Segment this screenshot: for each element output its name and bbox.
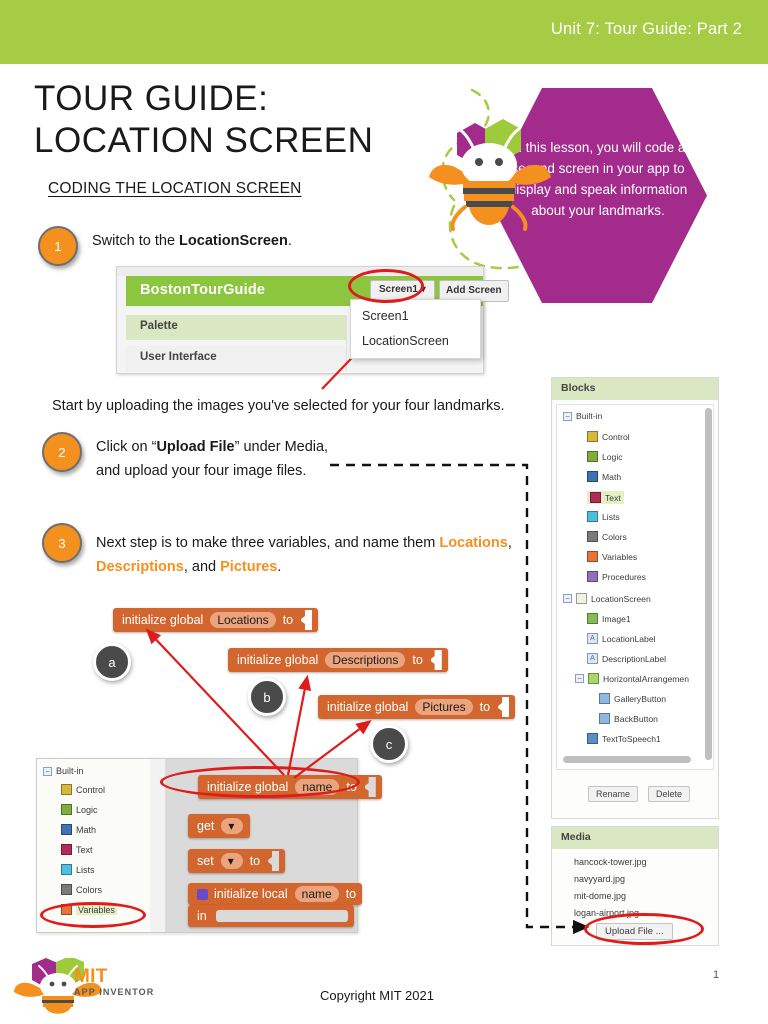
blocks-item-logic[interactable]: Logic [587, 451, 623, 462]
block-suffix: to [250, 854, 260, 868]
block-body-slot [216, 910, 348, 922]
text-color-icon [61, 844, 72, 855]
step-1-badge: 1 [38, 226, 78, 266]
highlight-upload-file-button [584, 913, 704, 945]
variables-color-icon [587, 551, 598, 562]
blocks-item-label: Lists [602, 512, 620, 522]
blocks-item-control[interactable]: Control [587, 431, 630, 442]
blocks-item-text[interactable]: Text [587, 491, 624, 504]
colors-color-icon [61, 884, 72, 895]
blocks-item-label: Variables [602, 552, 637, 562]
block-socket-icon [431, 650, 442, 670]
dropdown-pill[interactable]: ▾ [220, 852, 244, 870]
blocks-tree-locationscreen[interactable]: − LocationScreen [563, 593, 651, 604]
step-2-text: Click on “Upload File” under Media, and … [96, 436, 328, 484]
rename-button[interactable]: Rename [588, 786, 638, 802]
media-file-3[interactable]: mit-dome.jpg [574, 891, 626, 901]
media-file-2[interactable]: navyyard.jpg [574, 874, 625, 884]
block-prefix: initialize global [122, 613, 203, 627]
flyout-block-init-local[interactable]: initialize local name to [188, 883, 362, 905]
media-file-1[interactable]: hancock-tower.jpg [574, 857, 647, 867]
lists-color-icon [61, 864, 72, 875]
block-suffix: to [346, 887, 356, 901]
editor-root-label: Built-in [56, 766, 84, 776]
block-socket-icon [268, 851, 279, 871]
page-title-line2: LOCATION SCREEN [34, 120, 373, 161]
step-3-comma: , [508, 535, 512, 551]
blocks-panel-title: Blocks [561, 382, 595, 394]
blocks-item-label: TextToSpeech1 [602, 734, 661, 744]
block-label: get [197, 819, 214, 833]
browser-strip [117, 267, 483, 276]
step-3-var-pictures: Pictures [220, 559, 277, 575]
arrangement-icon [588, 673, 599, 684]
dropdown-pill[interactable]: ▾ [220, 817, 244, 835]
step-3-period: . [277, 559, 281, 575]
block-prefix: initialize global [237, 653, 318, 667]
step-3-pre: Next step is to make three variables, an… [96, 535, 439, 551]
collapse-icon[interactable]: − [563, 594, 572, 603]
screen-icon [576, 593, 587, 604]
user-interface-row[interactable]: User Interface [126, 346, 346, 371]
block-socket-icon [365, 777, 376, 797]
editor-item-label: Control [76, 785, 105, 795]
block-init-global-locations[interactable]: initialize global Locations to [113, 608, 318, 632]
dropdown-item-locationscreen[interactable]: LocationScreen [362, 334, 449, 348]
editor-tree-item-lists[interactable]: Lists [61, 864, 95, 875]
blocks-item-label: BackButton [614, 714, 658, 724]
step-3-text: Next step is to make three variables, an… [96, 532, 512, 580]
panel-divider [346, 315, 347, 371]
editor-item-label: Colors [76, 885, 102, 895]
step-2-post: ” under Media, [235, 439, 329, 455]
block-label: set [197, 854, 214, 868]
palette-header: Palette [126, 315, 346, 340]
step-3-line1: Next step is to make three variables, an… [96, 532, 512, 556]
blocks-item-procedures[interactable]: Procedures [587, 571, 646, 582]
blocks-vertical-scrollbar[interactable] [705, 408, 712, 760]
text-color-icon [590, 492, 601, 503]
editor-item-label: Logic [76, 805, 98, 815]
blocks-item-gallerybutton[interactable]: GalleryButton [599, 693, 666, 704]
media-panel-header: Media [552, 827, 718, 849]
collapse-icon[interactable]: − [563, 412, 572, 421]
dropdown-item-screen1[interactable]: Screen1 [362, 309, 409, 323]
button-icon [599, 693, 610, 704]
highlight-variables-drawer [40, 902, 146, 928]
editor-tree-item-control[interactable]: Control [61, 784, 105, 795]
media-panel-title: Media [561, 831, 591, 843]
marker-c: c [370, 725, 408, 763]
label-icon: A [587, 653, 598, 664]
step-1-text-bold: LocationScreen [179, 233, 288, 249]
button-icon [599, 713, 610, 724]
math-color-icon [61, 824, 72, 835]
gear-icon[interactable] [197, 889, 208, 900]
blocks-item-label: Procedures [602, 572, 646, 582]
flyout-block-init-local-in[interactable]: in [188, 905, 354, 927]
lists-color-icon [587, 511, 598, 522]
step-3-var-locations: Locations [439, 535, 507, 551]
logic-color-icon [61, 804, 72, 815]
blocks-item-backbutton[interactable]: BackButton [599, 713, 658, 724]
blocks-item-image1[interactable]: Image1 [587, 613, 631, 624]
blocks-item-label: Image1 [602, 614, 631, 624]
step-2-bold: Upload File [156, 439, 234, 455]
blocks-item-label: LocationLabel [602, 634, 656, 644]
page-subtitle: CODING THE LOCATION SCREEN [48, 180, 302, 198]
editor-tree-item-colors[interactable]: Colors [61, 884, 102, 895]
label-icon: A [587, 633, 598, 644]
marker-b: b [248, 678, 286, 716]
step-2-line2: and upload your four image files. [96, 460, 328, 484]
lesson-page: Unit 7: Tour Guide: Part 2 TOUR GUIDE: L… [0, 0, 768, 1024]
editor-item-label: Math [76, 825, 96, 835]
logic-color-icon [587, 451, 598, 462]
control-color-icon [61, 784, 72, 795]
blocks-tree: − Built-in Control Logic Math Text Lists… [556, 404, 714, 770]
block-variable-name[interactable]: name [294, 885, 340, 903]
block-in-label: in [197, 909, 207, 923]
step-2-pre: Click on “ [96, 439, 156, 455]
step-3-mid: , and [184, 559, 220, 575]
blocks-item-texttospeech1[interactable]: TextToSpeech1 [587, 733, 661, 744]
collapse-icon[interactable]: − [43, 767, 52, 776]
intro-line: Start by uploading the images you've sel… [52, 398, 505, 414]
step-2-line1: Click on “Upload File” under Media, [96, 436, 328, 460]
editor-tree-root[interactable]: − Built-in [43, 766, 84, 776]
screen-label: LocationScreen [591, 594, 651, 604]
blocks-horizontal-scrollbar[interactable] [563, 756, 691, 763]
screen-dropdown-menu[interactable]: Screen1 LocationScreen [350, 299, 481, 359]
editor-item-label: Text [76, 845, 93, 855]
editor-tree-item-logic[interactable]: Logic [61, 804, 98, 815]
step-1-text: Switch to the LocationScreen. [92, 230, 292, 254]
app-inventor-wordmark: APP INVENTOR [74, 987, 154, 997]
step-1-text-post: . [288, 233, 292, 249]
highlight-init-global-block [160, 766, 360, 798]
blocks-item-math[interactable]: Math [587, 471, 621, 482]
mit-bee-mascot-icon [425, 95, 555, 245]
step-1-text-pre: Switch to the [92, 233, 179, 249]
block-suffix: to [283, 613, 293, 627]
speech-icon [587, 733, 598, 744]
blocks-item-label: Math [602, 472, 621, 482]
control-color-icon [587, 431, 598, 442]
blocks-item-label: Colors [602, 532, 627, 542]
delete-button[interactable]: Delete [648, 786, 690, 802]
marker-a: a [93, 643, 131, 681]
project-name-label: BostonTourGuide [140, 282, 265, 298]
block-socket-icon [301, 610, 312, 630]
image-icon [587, 613, 598, 624]
block-suffix: to [412, 653, 422, 667]
block-init-global-pictures[interactable]: initialize global Pictures to [318, 695, 515, 719]
blocks-panel: Blocks − Built-in Control Logic Math Tex… [551, 377, 719, 819]
editor-tree-item-math[interactable]: Math [61, 824, 96, 835]
step-3-line2: Descriptions, and Pictures. [96, 556, 512, 580]
blocks-item-label: GalleryButton [614, 694, 666, 704]
flyout-block-set[interactable]: set ▾ to [188, 849, 285, 873]
block-prefix: initialize global [327, 700, 408, 714]
block-variable-name[interactable]: Pictures [414, 698, 473, 716]
colors-color-icon [587, 531, 598, 542]
page-number: 1 [713, 969, 719, 981]
blocks-item-descriptionlabel[interactable]: ADescriptionLabel [587, 653, 666, 664]
procedures-color-icon [587, 571, 598, 582]
block-variable-name[interactable]: Descriptions [324, 651, 406, 669]
blocks-tree-builtin[interactable]: − Built-in [563, 411, 602, 421]
copyright-text: Copyright MIT 2021 [320, 988, 434, 1003]
blocks-item-variables[interactable]: Variables [587, 551, 637, 562]
blocks-item-lists[interactable]: Lists [587, 511, 620, 522]
step-3-badge: 3 [42, 523, 82, 563]
unit-label: Unit 7: Tour Guide: Part 2 [551, 20, 742, 39]
blocks-item-locationlabel[interactable]: ALocationLabel [587, 633, 656, 644]
editor-item-label: Lists [76, 865, 95, 875]
blocks-item-label: Logic [602, 452, 623, 462]
step-3-var-descriptions: Descriptions [96, 559, 184, 575]
block-suffix: to [480, 700, 490, 714]
user-interface-label: User Interface [140, 351, 217, 363]
blocks-panel-header: Blocks [552, 378, 718, 400]
step-2-badge: 2 [42, 432, 82, 472]
editor-tree-item-text[interactable]: Text [61, 844, 93, 855]
blocks-item-label: Control [602, 432, 630, 442]
blocks-item-colors[interactable]: Colors [587, 531, 627, 542]
flyout-block-get[interactable]: get ▾ [188, 814, 250, 838]
page-title-line1: TOUR GUIDE: [34, 78, 268, 119]
block-variable-name[interactable]: Locations [209, 611, 276, 629]
blocks-item-label: HorizontalArrangemen [603, 674, 689, 684]
builtin-label: Built-in [576, 411, 602, 421]
palette-label: Palette [140, 320, 178, 332]
block-init-global-descriptions[interactable]: initialize global Descriptions to [228, 648, 448, 672]
mit-wordmark: MIT [74, 966, 108, 988]
block-prefix: initialize local [214, 887, 288, 901]
blocks-item-label: DescriptionLabel [602, 654, 666, 664]
blocks-item-label: Text [605, 493, 621, 503]
block-socket-icon [498, 697, 509, 717]
collapse-icon[interactable]: − [575, 674, 584, 683]
math-color-icon [587, 471, 598, 482]
blocks-item-horizontalarrangement[interactable]: −HorizontalArrangemen [575, 673, 689, 684]
highlight-screen-selector [348, 269, 424, 303]
